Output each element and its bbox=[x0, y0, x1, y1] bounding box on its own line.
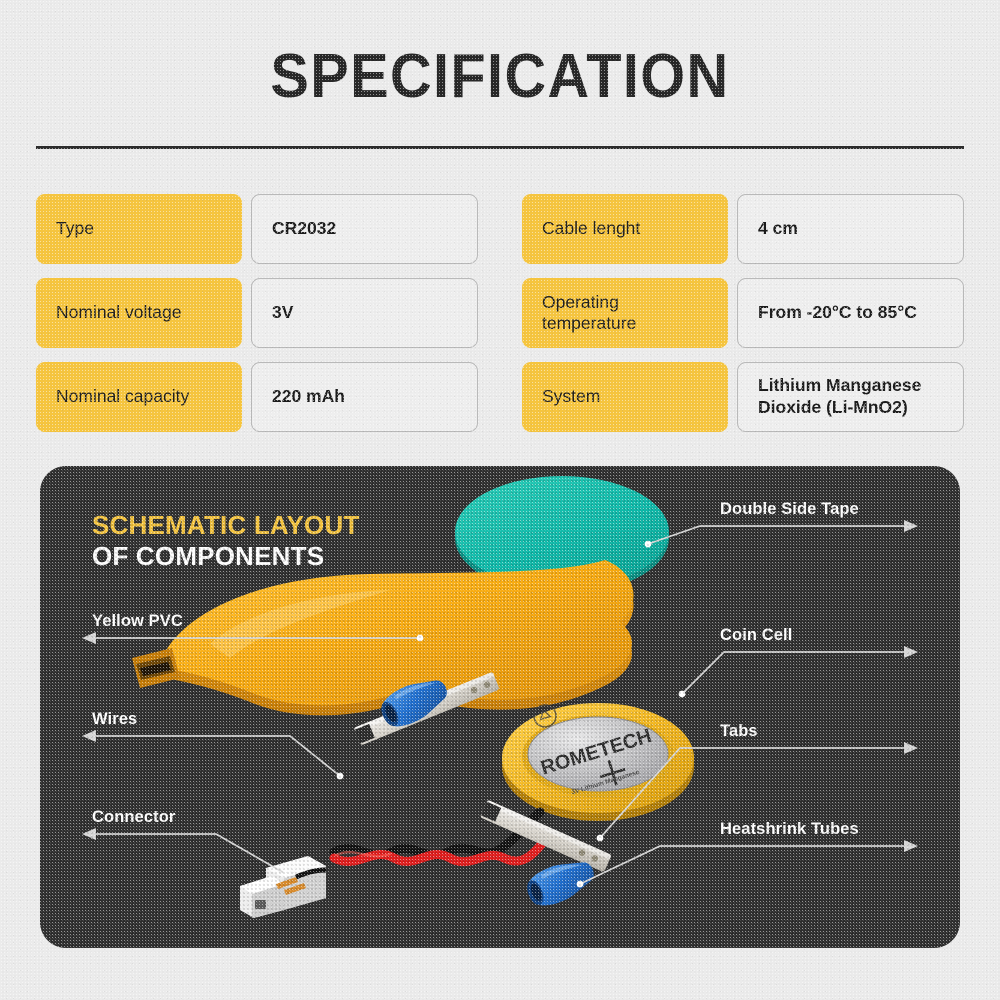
leader-double-side-tape bbox=[648, 526, 906, 544]
leader-connector bbox=[94, 834, 286, 874]
spec-row: Nominal capacity 220 mAh bbox=[36, 362, 478, 432]
callout-label-coin-cell: Coin Cell bbox=[720, 626, 792, 645]
leader-heatshrink-tubes bbox=[580, 846, 906, 884]
spec-column-right: Cable lenght 4 cm Operating temperature … bbox=[522, 194, 964, 432]
spec-column-left: Type CR2032 Nominal voltage 3V Nominal c… bbox=[36, 194, 478, 432]
spec-key: Cable lenght bbox=[522, 194, 728, 264]
spec-row: Cable lenght 4 cm bbox=[522, 194, 964, 264]
callout-label-connector: Connector bbox=[92, 808, 175, 827]
page-title: SPECIFICATION bbox=[35, 46, 965, 108]
callout-label-wires: Wires bbox=[92, 710, 137, 729]
spec-row: Type CR2032 bbox=[36, 194, 478, 264]
schematic-heading-line2: OF COMPONENTS bbox=[92, 541, 360, 572]
spec-key: Nominal voltage bbox=[36, 278, 242, 348]
callout-label-yellow-pvc: Yellow PVC bbox=[92, 612, 183, 631]
spec-row: Nominal voltage 3V bbox=[36, 278, 478, 348]
page-title-block: SPECIFICATION bbox=[0, 46, 1000, 108]
callout-label-heatshrink-tubes: Heatshrink Tubes bbox=[720, 820, 859, 839]
title-divider bbox=[36, 146, 964, 149]
spec-key: Operating temperature bbox=[522, 278, 728, 348]
spec-value: 4 cm bbox=[737, 194, 964, 264]
spec-row: System Lithium Manganese Dioxide (Li-MnO… bbox=[522, 362, 964, 432]
spec-value: CR2032 bbox=[251, 194, 478, 264]
spec-value: Lithium Manganese Dioxide (Li-MnO2) bbox=[737, 362, 964, 432]
leader-anchor-dots bbox=[283, 541, 686, 888]
specification-table: Type CR2032 Nominal voltage 3V Nominal c… bbox=[36, 194, 964, 432]
leader-wires bbox=[94, 736, 340, 776]
spec-value: 3V bbox=[251, 278, 478, 348]
spec-key: System bbox=[522, 362, 728, 432]
spec-row: Operating temperature From -20°C to 85°C bbox=[522, 278, 964, 348]
schematic-heading: SCHEMATIC LAYOUT OF COMPONENTS bbox=[92, 510, 360, 571]
spec-key: Type bbox=[36, 194, 242, 264]
page-root: SPECIFICATION Type CR2032 Nominal voltag… bbox=[0, 0, 1000, 1000]
leader-coin-cell bbox=[682, 652, 906, 694]
schematic-panel: ROMETECH 3V Lithium Manganese bbox=[40, 466, 960, 948]
spec-key: Nominal capacity bbox=[36, 362, 242, 432]
callout-label-double-side-tape: Double Side Tape bbox=[720, 500, 859, 519]
callout-label-tabs: Tabs bbox=[720, 722, 758, 741]
schematic-heading-line1: SCHEMATIC LAYOUT bbox=[92, 510, 360, 541]
spec-value: 220 mAh bbox=[251, 362, 478, 432]
spec-value: From -20°C to 85°C bbox=[737, 278, 964, 348]
